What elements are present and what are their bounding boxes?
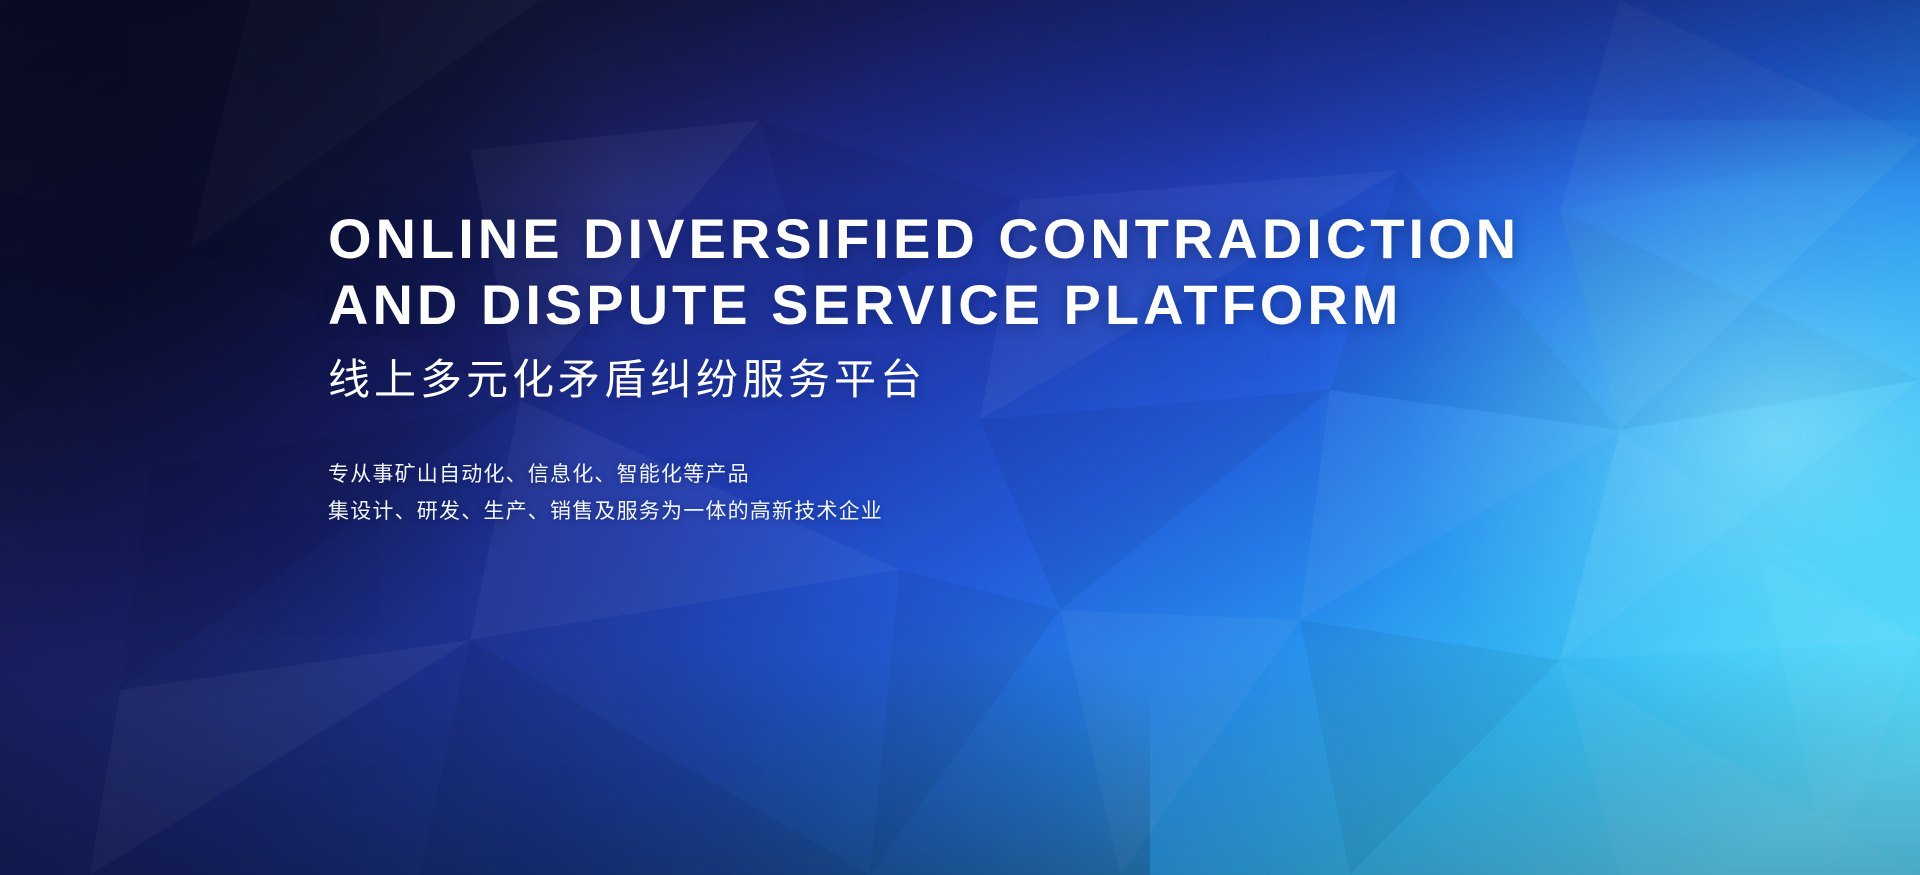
hero-description: 专从事矿山自动化、信息化、智能化等产品 集设计、研发、生产、销售及服务为一体的高… (328, 456, 1628, 530)
description-line-2: 集设计、研发、生产、销售及服务为一体的高新技术企业 (328, 493, 1628, 530)
hero-banner: ONLINE DIVERSIFIED CONTRADICTION AND DIS… (0, 0, 1920, 875)
headline-line-1: ONLINE DIVERSIFIED CONTRADICTION (328, 206, 1628, 272)
hero-subtitle-chinese: 线上多元化矛盾纠纷服务平台 (328, 354, 1628, 406)
description-line-1: 专从事矿山自动化、信息化、智能化等产品 (328, 456, 1628, 493)
headline-line-2: AND DISPUTE SERVICE PLATFORM (328, 272, 1628, 338)
hero-headline-english: ONLINE DIVERSIFIED CONTRADICTION AND DIS… (328, 206, 1628, 338)
hero-content: ONLINE DIVERSIFIED CONTRADICTION AND DIS… (328, 206, 1628, 530)
